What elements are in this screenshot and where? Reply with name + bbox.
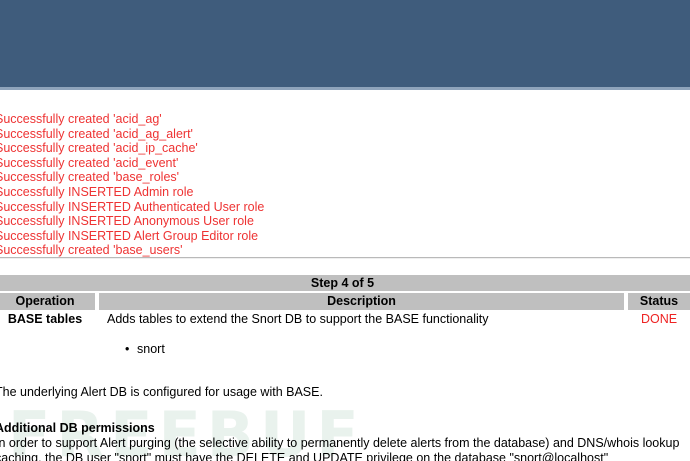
additional-permissions-heading: Additional DB permissions xyxy=(0,421,690,436)
status-badge: DONE xyxy=(628,310,690,329)
page-banner xyxy=(0,0,690,87)
column-header-status: Status xyxy=(628,293,690,310)
permissions-text-line-1: In order to support Alert purging (the s… xyxy=(0,436,690,451)
base-setup-page: FREEBUF Basic Analysis and Security Engi… xyxy=(0,0,690,461)
permissions-text-line-2: caching, the DB user "snort" must have t… xyxy=(0,451,690,461)
log-line: Successfully created 'acid_event' xyxy=(0,156,690,171)
step-bar-row: Step 4 of 5 xyxy=(0,275,690,291)
log-line: Successfully INSERTED Anonymous User rol… xyxy=(0,214,690,229)
table-row: BASE tables Adds tables to extend the Sn… xyxy=(0,310,690,329)
column-header-description: Description xyxy=(99,293,624,310)
cell-operation: BASE tables xyxy=(0,310,95,329)
log-output: Successfully created 'acid_ag' Successfu… xyxy=(0,112,690,258)
paragraph-gap xyxy=(0,400,690,421)
log-line: Successfully INSERTED Alert Group Editor… xyxy=(0,229,690,244)
bullet-dot-icon: • xyxy=(125,342,137,357)
log-line: Successfully INSERTED Admin role xyxy=(0,185,690,200)
section-divider xyxy=(0,257,690,259)
table-header-row: Operation Description Status xyxy=(0,293,690,310)
log-line: Successfully created 'base_roles' xyxy=(0,170,690,185)
alert-db-status-text: The underlying Alert DB is configured fo… xyxy=(0,385,690,400)
log-line: Successfully created 'acid_ip_cache' xyxy=(0,141,690,156)
database-list: •snort xyxy=(125,342,165,357)
list-item-label: snort xyxy=(137,342,165,356)
list-item: •snort xyxy=(125,342,165,357)
log-line: Successfully created 'acid_ag' xyxy=(0,112,690,127)
prose-section: The underlying Alert DB is configured fo… xyxy=(0,385,690,461)
log-line: Successfully INSERTED Authenticated User… xyxy=(0,200,690,215)
cell-description: Adds tables to extend the Snort DB to su… xyxy=(99,310,624,329)
step-indicator: Step 4 of 5 xyxy=(0,275,690,291)
banner-underline xyxy=(0,87,690,90)
log-line: Successfully created 'base_users' xyxy=(0,243,690,258)
log-line: Successfully created 'acid_ag_alert' xyxy=(0,127,690,142)
column-header-operation: Operation xyxy=(0,293,95,310)
step-status-table: Step 4 of 5 Operation Description Status… xyxy=(0,275,690,329)
